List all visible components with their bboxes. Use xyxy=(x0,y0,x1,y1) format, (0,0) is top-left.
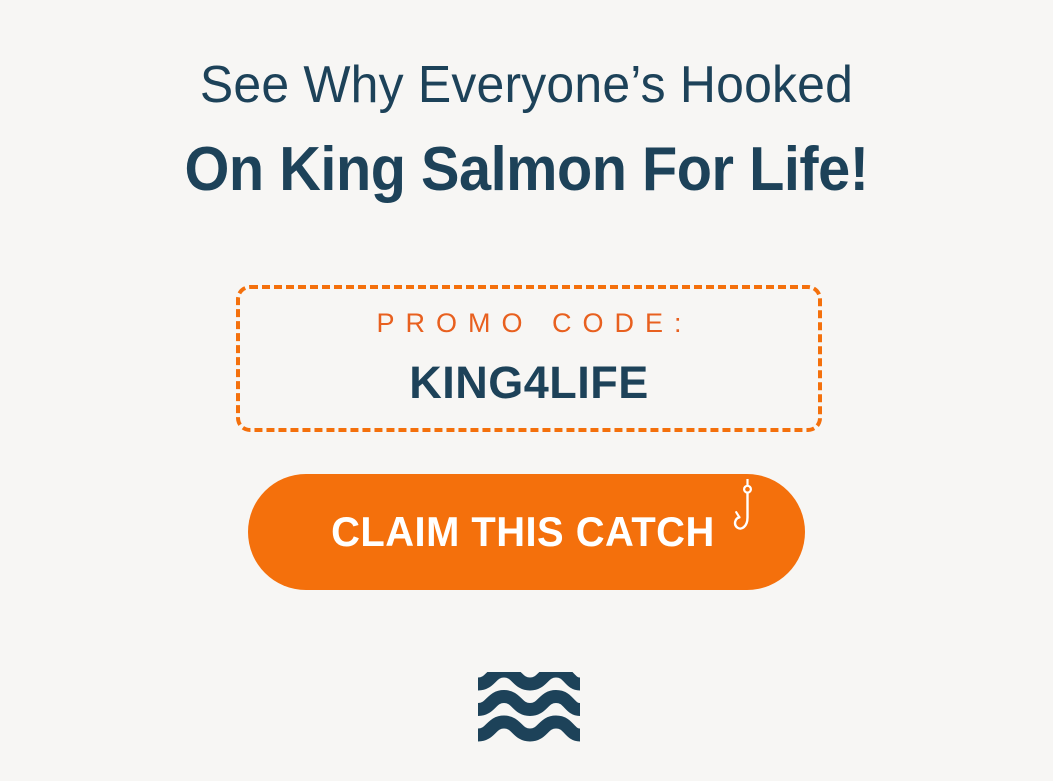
promo-code-label: PROMO CODE: xyxy=(365,308,692,339)
cta-button-label: CLAIM THIS CATCH xyxy=(331,508,715,556)
promo-banner: See Why Everyone’s Hooked On King Salmon… xyxy=(0,0,1053,781)
headline-block: See Why Everyone’s Hooked On King Salmon… xyxy=(0,58,1053,202)
headline-line-1: See Why Everyone’s Hooked xyxy=(21,58,1032,113)
fish-hook-icon xyxy=(730,479,758,537)
promo-code-box[interactable]: PROMO CODE: KING4LIFE xyxy=(236,285,822,432)
headline-line-2: On King Salmon For Life! xyxy=(37,137,1016,202)
claim-this-catch-button[interactable]: CLAIM THIS CATCH xyxy=(248,474,805,590)
promo-code-value[interactable]: KING4LIFE xyxy=(409,357,649,409)
wave-logo xyxy=(477,672,581,747)
